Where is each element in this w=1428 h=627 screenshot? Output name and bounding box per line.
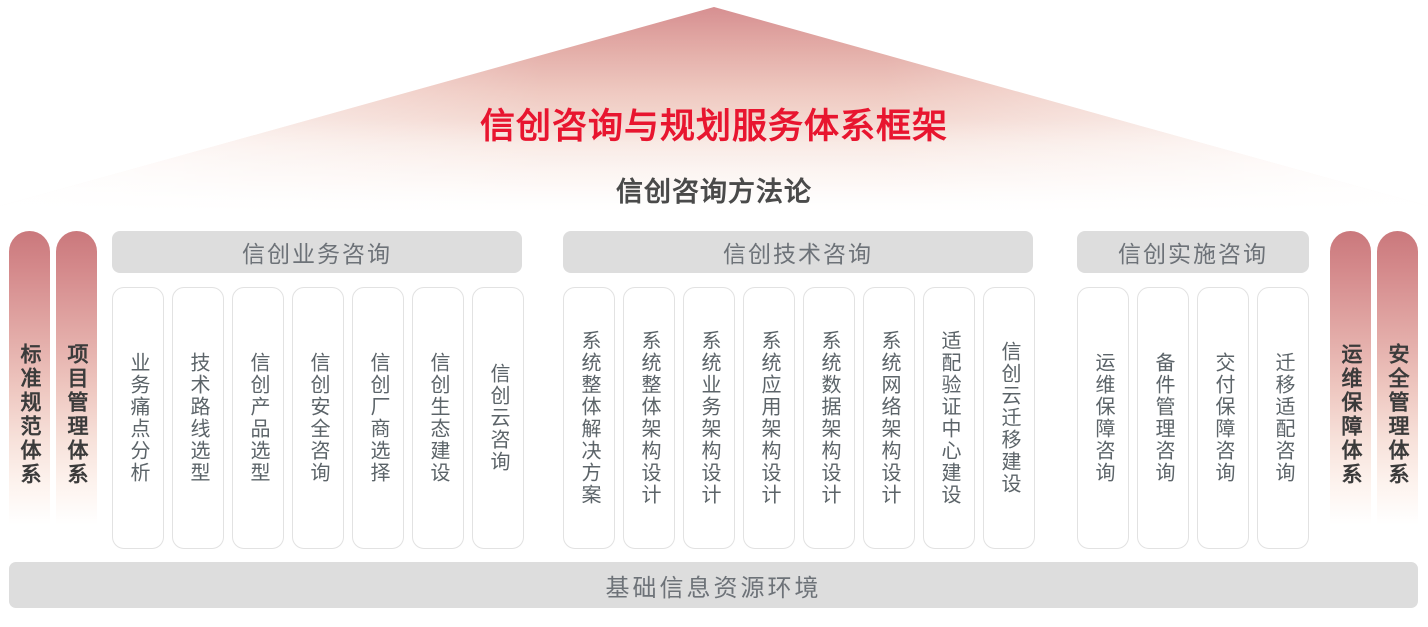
- service-card-label: 系统整体解决方案: [579, 330, 599, 506]
- service-card[interactable]: 技术路线选型: [172, 287, 224, 549]
- group-card-list: 业务痛点分析技术路线选型信创产品选型信创安全咨询信创厂商选择信创生态建设信创云咨…: [112, 287, 524, 549]
- service-card-label: 信创云咨询: [488, 363, 508, 473]
- service-card[interactable]: 系统数据架构设计: [803, 287, 855, 549]
- service-card-label: 信创厂商选择: [368, 352, 388, 484]
- group-implementation-consulting: 信创实施咨询 运维保障咨询备件管理咨询交付保障咨询迁移适配咨询: [1077, 231, 1309, 273]
- service-card-label: 信创安全咨询: [308, 352, 328, 484]
- service-card-label: 系统业务架构设计: [699, 330, 719, 506]
- pillar-label: 标准规范体系: [19, 343, 40, 487]
- service-card[interactable]: 系统业务架构设计: [683, 287, 735, 549]
- pillar-security-management[interactable]: 安全管理体系: [1377, 231, 1418, 547]
- service-card-label: 信创产品选型: [248, 352, 268, 484]
- service-card[interactable]: 系统整体解决方案: [563, 287, 615, 549]
- diagram-canvas: 信创咨询与规划服务体系框架 信创咨询方法论 标准规范体系 项目管理体系 运维保障…: [0, 0, 1428, 627]
- service-card[interactable]: 迁移适配咨询: [1257, 287, 1309, 549]
- pillar-ops-support[interactable]: 运维保障体系: [1330, 231, 1371, 547]
- service-card-label: 业务痛点分析: [128, 352, 148, 484]
- service-card-label: 技术路线选型: [188, 352, 208, 484]
- service-card-label: 运维保障咨询: [1093, 352, 1113, 484]
- service-card[interactable]: 系统应用架构设计: [743, 287, 795, 549]
- service-card[interactable]: 交付保障咨询: [1197, 287, 1249, 549]
- service-card-label: 系统整体架构设计: [639, 330, 659, 506]
- service-card[interactable]: 运维保障咨询: [1077, 287, 1129, 549]
- service-card[interactable]: 备件管理咨询: [1137, 287, 1189, 549]
- group-business-consulting: 信创业务咨询 业务痛点分析技术路线选型信创产品选型信创安全咨询信创厂商选择信创生…: [112, 231, 522, 273]
- pillar-project-management[interactable]: 项目管理体系: [56, 231, 97, 547]
- service-card-label: 迁移适配咨询: [1273, 352, 1293, 484]
- service-card-label: 信创云迁移建设: [999, 341, 1019, 495]
- group-card-list: 系统整体解决方案系统整体架构设计系统业务架构设计系统应用架构设计系统数据架构设计…: [563, 287, 1035, 549]
- pillar-standard-spec[interactable]: 标准规范体系: [9, 231, 50, 547]
- pillar-label: 项目管理体系: [66, 343, 87, 487]
- service-card[interactable]: 信创云迁移建设: [983, 287, 1035, 549]
- service-card[interactable]: 信创云咨询: [472, 287, 524, 549]
- group-header[interactable]: 信创技术咨询: [563, 231, 1033, 273]
- page-title: 信创咨询与规划服务体系框架: [0, 98, 1428, 149]
- service-card-label: 备件管理咨询: [1153, 352, 1173, 484]
- service-card-label: 交付保障咨询: [1213, 352, 1233, 484]
- service-card-label: 系统数据架构设计: [819, 330, 839, 506]
- service-card-label: 系统网络架构设计: [879, 330, 899, 506]
- service-card-label: 适配验证中心建设: [939, 330, 959, 506]
- group-header[interactable]: 信创业务咨询: [112, 231, 522, 273]
- service-card[interactable]: 系统整体架构设计: [623, 287, 675, 549]
- service-card[interactable]: 适配验证中心建设: [923, 287, 975, 549]
- service-card[interactable]: 信创安全咨询: [292, 287, 344, 549]
- group-header[interactable]: 信创实施咨询: [1077, 231, 1309, 273]
- page-subtitle: 信创咨询方法论: [0, 170, 1428, 209]
- service-card[interactable]: 信创厂商选择: [352, 287, 404, 549]
- service-card[interactable]: 系统网络架构设计: [863, 287, 915, 549]
- base-foundation-bar[interactable]: 基础信息资源环境: [9, 562, 1418, 608]
- pillar-label: 安全管理体系: [1387, 343, 1408, 487]
- service-card[interactable]: 信创生态建设: [412, 287, 464, 549]
- group-card-list: 运维保障咨询备件管理咨询交付保障咨询迁移适配咨询: [1077, 287, 1309, 549]
- pillar-label: 运维保障体系: [1340, 343, 1361, 487]
- service-card-label: 信创生态建设: [428, 352, 448, 484]
- group-technology-consulting: 信创技术咨询 系统整体解决方案系统整体架构设计系统业务架构设计系统应用架构设计系…: [563, 231, 1033, 273]
- service-card-label: 系统应用架构设计: [759, 330, 779, 506]
- service-card[interactable]: 业务痛点分析: [112, 287, 164, 549]
- service-card[interactable]: 信创产品选型: [232, 287, 284, 549]
